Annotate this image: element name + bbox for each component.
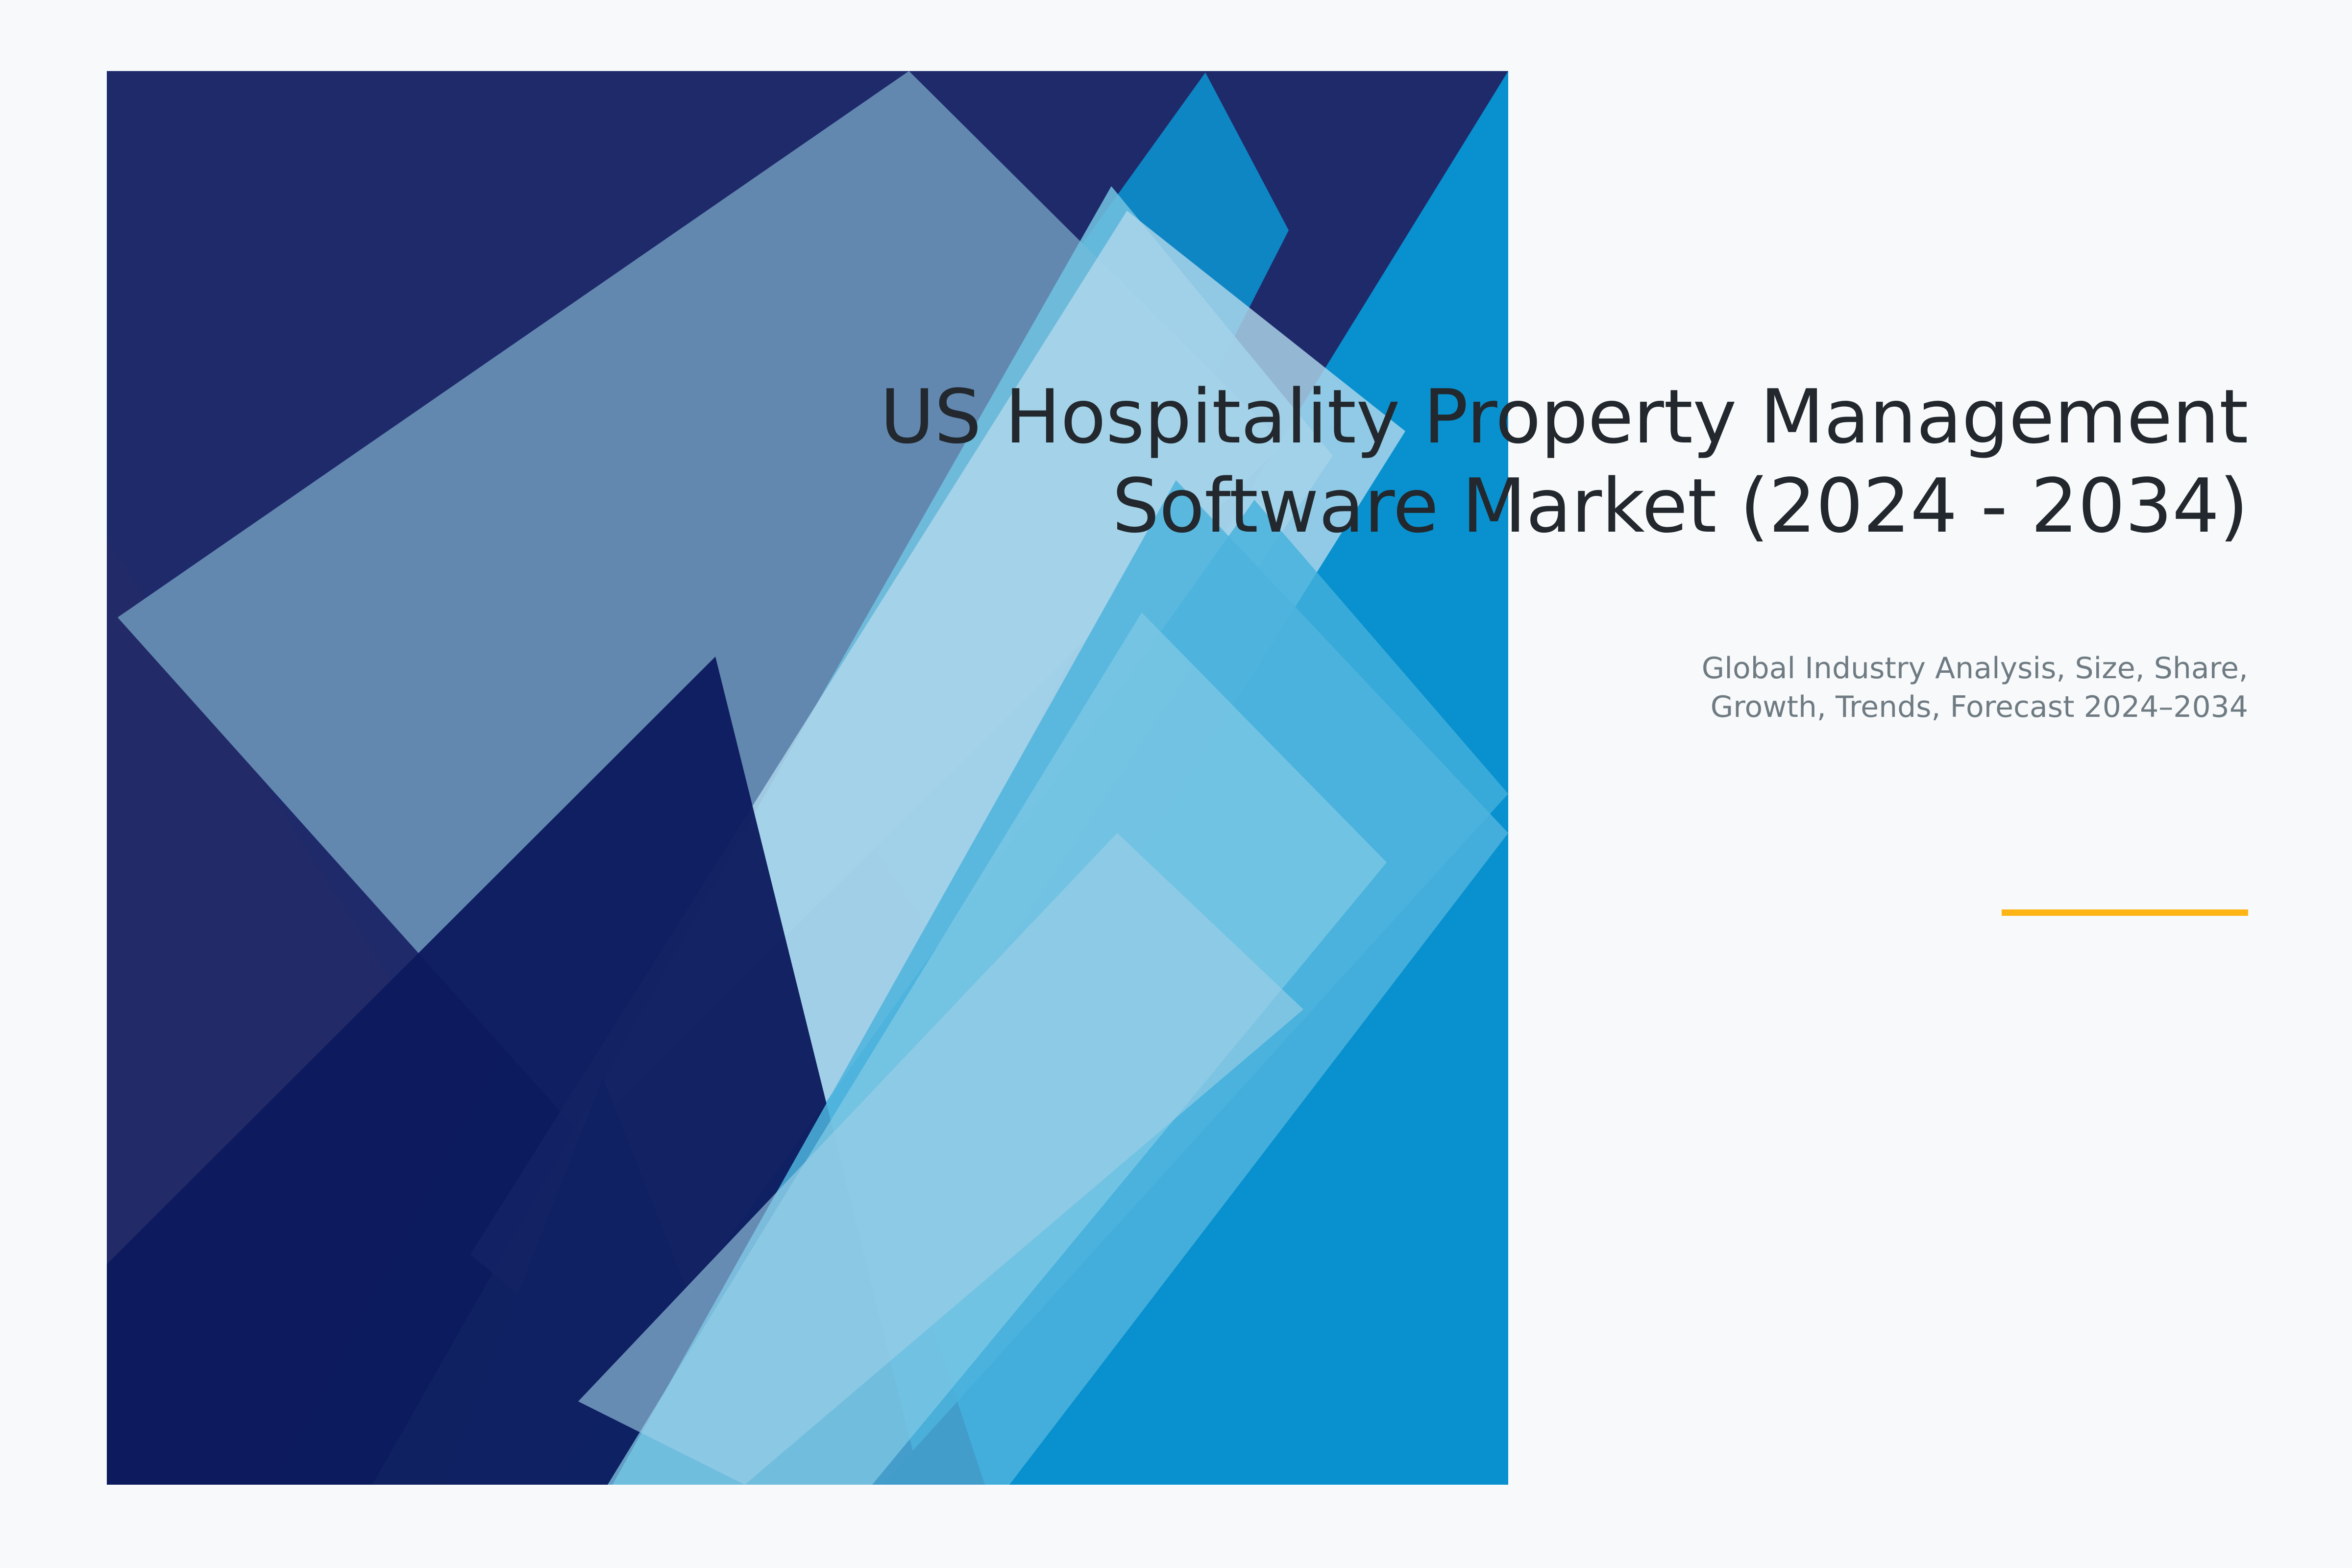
cover-text-block: US Hospitality Property Management Softw… <box>735 372 2248 551</box>
shape-navy-foot <box>107 657 921 1485</box>
abstract-polygon-graphic <box>0 0 2352 1568</box>
shape-deep-navy-left <box>107 539 715 1485</box>
shape-bottom-cyan-sliver <box>443 1078 764 1485</box>
shape-cyan-base <box>107 71 1508 1485</box>
shape-steel-quad <box>118 71 1284 1137</box>
report-cover: US Hospitality Property Management Softw… <box>0 0 2352 1568</box>
shape-pale-v-highlight <box>608 612 1387 1485</box>
page-title: US Hospitality Property Management Softw… <box>735 372 2248 551</box>
title-accent-underline <box>2002 909 2248 916</box>
shape-navy-top-wedge <box>107 71 1508 1485</box>
shape-medium-blue-band <box>554 500 1508 1485</box>
shape-deep-navy-bottom <box>274 657 985 1485</box>
shape-pale-v-core <box>578 833 1303 1485</box>
cover-subtitle: Global Industry Analysis, Size, Share, G… <box>735 649 2248 727</box>
shape-right-blue-restore <box>612 480 1508 1485</box>
